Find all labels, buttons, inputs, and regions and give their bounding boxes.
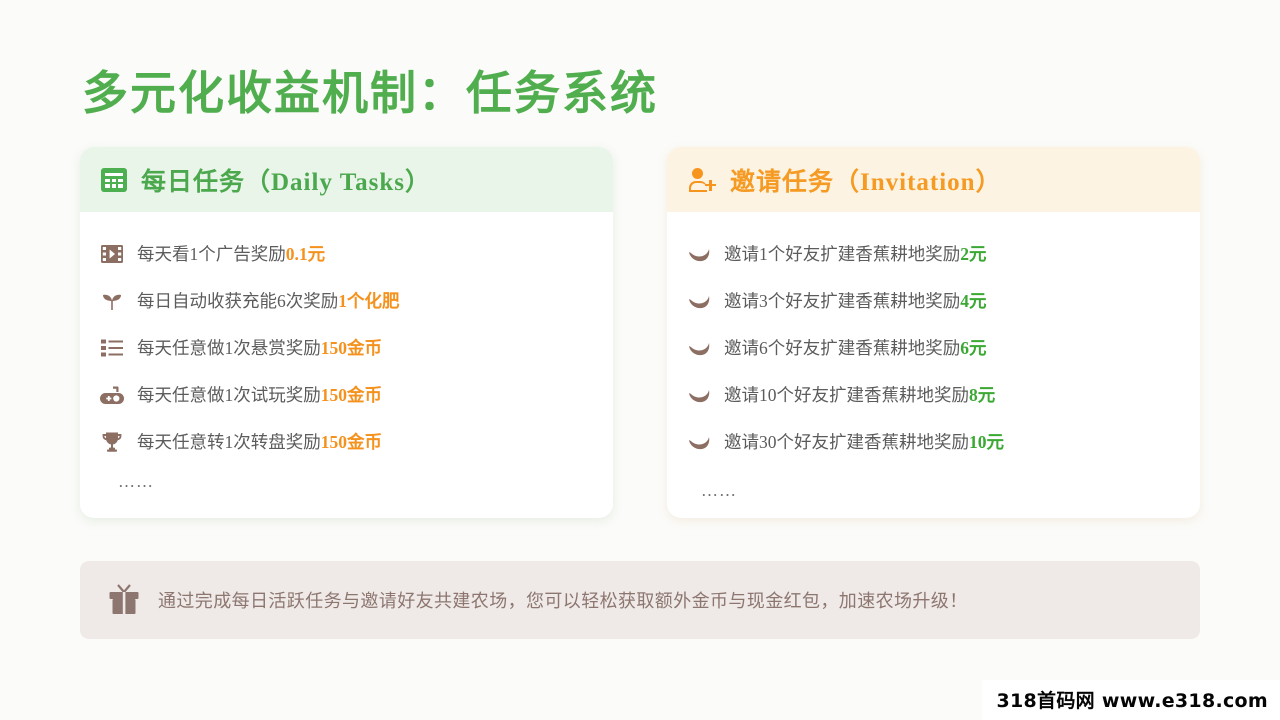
page-title: 多元化收益机制：任务系统 bbox=[82, 57, 658, 123]
task-row: 邀请1个好友扩建香蕉耕地奖励2元 bbox=[687, 230, 1180, 277]
task-row: 每天任意做1次悬赏奖励150金币 bbox=[100, 324, 593, 371]
task-label: 邀请3个好友扩建香蕉耕地奖励4元 bbox=[724, 288, 987, 313]
trophy-icon bbox=[100, 430, 124, 454]
daily-tasks-ellipsis: …… bbox=[100, 472, 593, 492]
banana-icon bbox=[687, 289, 711, 313]
task-label: 邀请6个好友扩建香蕉耕地奖励6元 bbox=[724, 335, 987, 360]
gift-icon bbox=[107, 583, 141, 617]
task-row: 每天看1个广告奖励0.1元 bbox=[100, 230, 593, 277]
task-row: 邀请10个好友扩建香蕉耕地奖励8元 bbox=[687, 371, 1180, 418]
watermark: 318首码网 www.e318.com bbox=[982, 680, 1280, 720]
task-label: 每天任意做1次悬赏奖励150金币 bbox=[137, 335, 382, 360]
banana-icon bbox=[687, 242, 711, 266]
calendar-icon bbox=[101, 168, 127, 192]
task-row: 每日自动收获充能6次奖励1个化肥 bbox=[100, 277, 593, 324]
task-label: 邀请10个好友扩建香蕉耕地奖励8元 bbox=[724, 382, 995, 407]
summary-banner-text: 通过完成每日活跃任务与邀请好友共建农场，您可以轻松获取额外金币与现金红包，加速农… bbox=[158, 587, 968, 613]
user-plus-icon bbox=[688, 167, 716, 193]
gamepad-icon bbox=[100, 383, 124, 407]
task-row: 邀请3个好友扩建香蕉耕地奖励4元 bbox=[687, 277, 1180, 324]
invitation-tasks-header: 邀请任务（Invitation） bbox=[667, 147, 1200, 212]
task-row: 每天任意做1次试玩奖励150金币 bbox=[100, 371, 593, 418]
invitation-tasks-title: 邀请任务（Invitation） bbox=[730, 162, 1002, 198]
slide-page: 多元化收益机制：任务系统 每日任务（Daily Tasks） bbox=[0, 0, 1280, 720]
task-row: 邀请6个好友扩建香蕉耕地奖励6元 bbox=[687, 324, 1180, 371]
task-label: 每天任意做1次试玩奖励150金币 bbox=[137, 382, 382, 407]
task-row: 每天任意转1次转盘奖励150金币 bbox=[100, 418, 593, 465]
banana-icon bbox=[687, 383, 711, 407]
banana-icon bbox=[687, 336, 711, 360]
daily-tasks-card: 每日任务（Daily Tasks） 每天看1个广告奖励0. bbox=[80, 147, 613, 518]
film-icon bbox=[100, 242, 124, 266]
task-label: 每日自动收获充能6次奖励1个化肥 bbox=[137, 288, 400, 313]
invitation-tasks-card: 邀请任务（Invitation） 邀请1个好友扩建香蕉耕地奖励2元 邀请3个好友… bbox=[667, 147, 1200, 518]
task-label: 每天任意转1次转盘奖励150金币 bbox=[137, 429, 382, 454]
invitation-tasks-list: 邀请1个好友扩建香蕉耕地奖励2元 邀请3个好友扩建香蕉耕地奖励4元 邀请6个好友… bbox=[667, 212, 1200, 501]
task-label: 邀请1个好友扩建香蕉耕地奖励2元 bbox=[724, 241, 987, 266]
daily-tasks-header: 每日任务（Daily Tasks） bbox=[80, 147, 613, 212]
banana-icon bbox=[687, 430, 711, 454]
list-icon bbox=[100, 336, 124, 360]
sprout-icon bbox=[100, 289, 124, 313]
daily-tasks-list: 每天看1个广告奖励0.1元 每日自动收获充能6次奖励1个化肥 bbox=[80, 212, 613, 492]
task-label: 邀请30个好友扩建香蕉耕地奖励10元 bbox=[724, 429, 1004, 454]
invitation-tasks-ellipsis: …… bbox=[687, 481, 1180, 501]
summary-banner: 通过完成每日活跃任务与邀请好友共建农场，您可以轻松获取额外金币与现金红包，加速农… bbox=[80, 561, 1200, 639]
task-label: 每天看1个广告奖励0.1元 bbox=[137, 241, 325, 266]
daily-tasks-title: 每日任务（Daily Tasks） bbox=[141, 162, 431, 198]
task-row: 邀请30个好友扩建香蕉耕地奖励10元 bbox=[687, 418, 1180, 465]
